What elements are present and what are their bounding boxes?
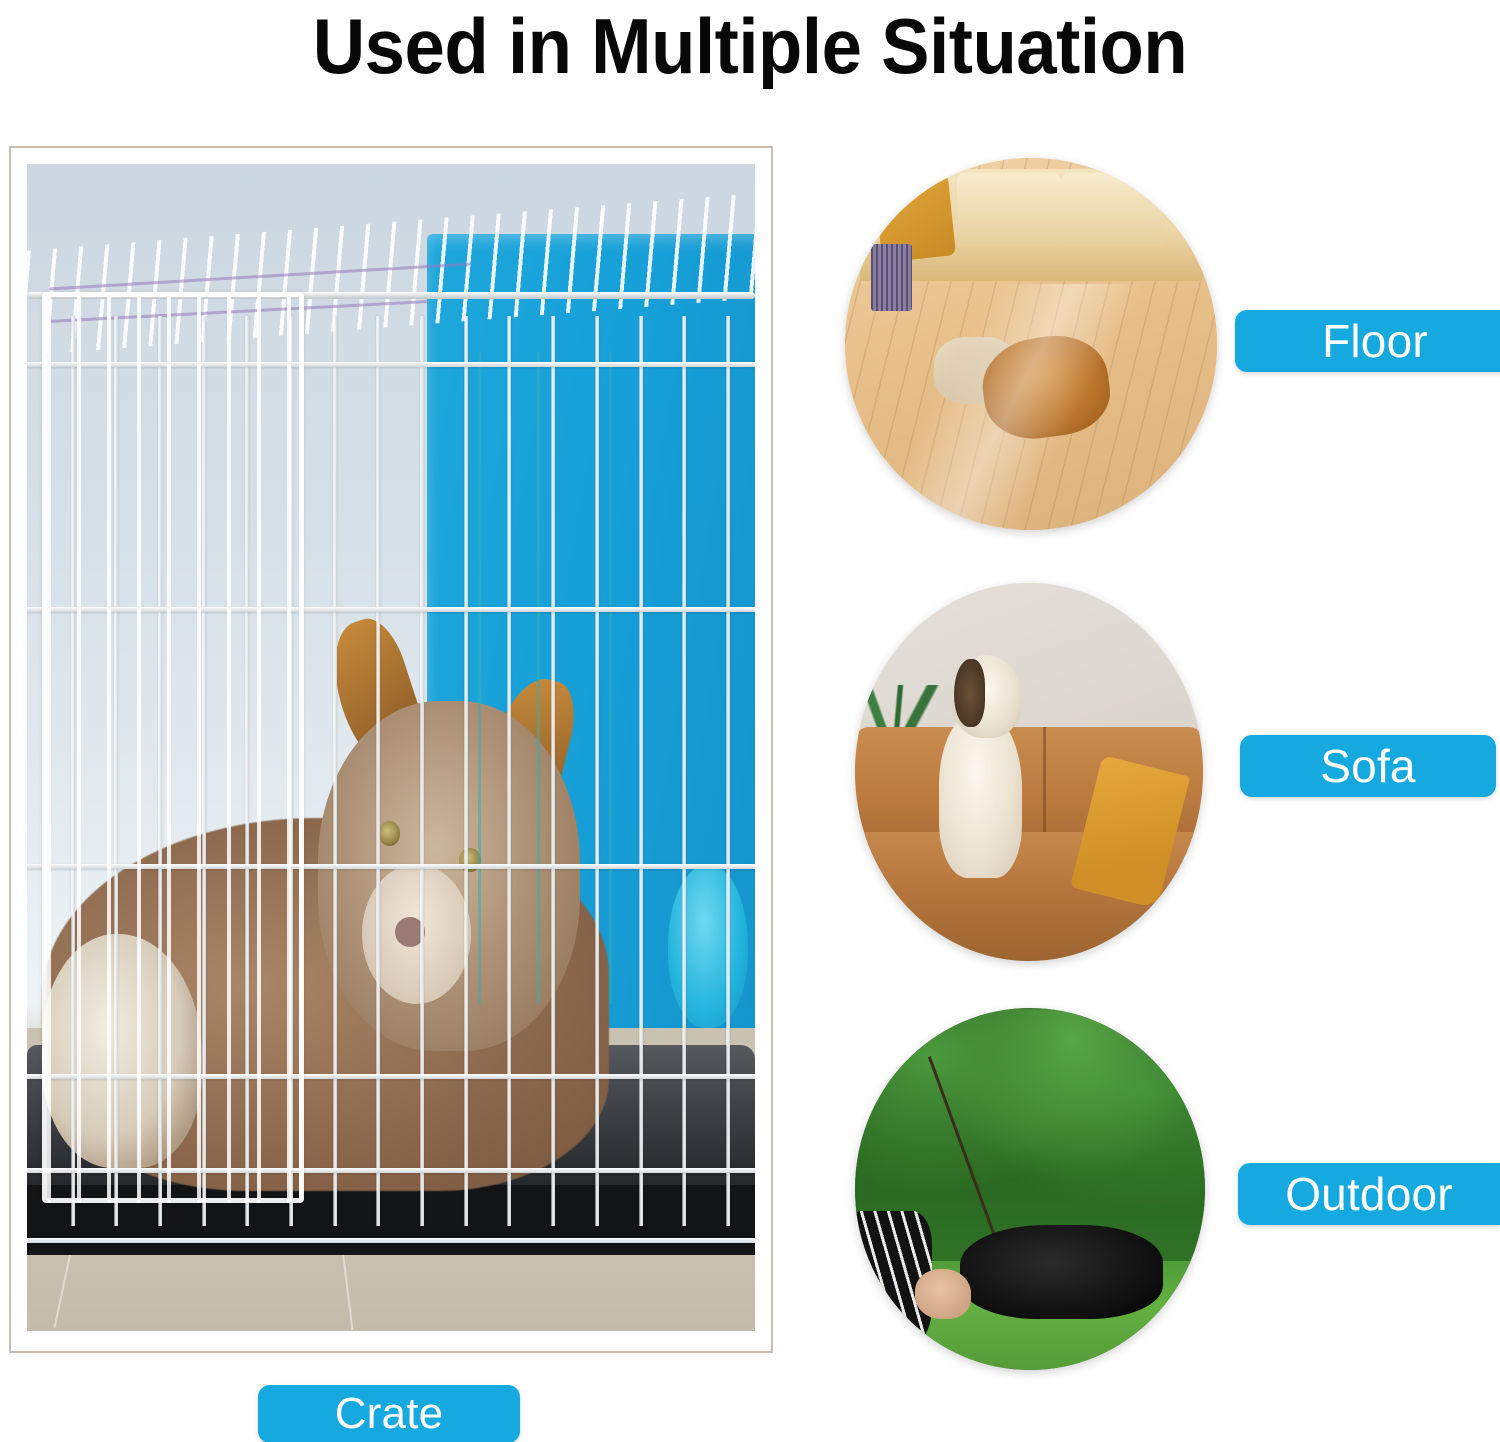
- label-sofa[interactable]: Sofa: [1240, 735, 1496, 797]
- sofa-cushion: [1061, 173, 1165, 247]
- label-crate-text: Crate: [335, 1389, 444, 1439]
- collie-eye-left: [379, 821, 401, 846]
- label-crate[interactable]: Crate: [258, 1385, 520, 1442]
- plush-toy: [42, 934, 202, 1167]
- label-floor[interactable]: Floor: [1235, 310, 1500, 372]
- person-hand: [915, 1269, 971, 1320]
- crate-photo-frame: [9, 146, 773, 1353]
- situation-photo-outdoor: [855, 1008, 1205, 1370]
- situation-photo-floor: [845, 158, 1217, 530]
- sunlight-beam: [845, 284, 1217, 530]
- label-floor-text: Floor: [1322, 314, 1428, 368]
- label-sofa-text: Sofa: [1320, 739, 1415, 793]
- situation-photo-sofa: [855, 583, 1203, 961]
- label-outdoor-text: Outdoor: [1285, 1167, 1453, 1221]
- dog-bed-base: [27, 1185, 755, 1255]
- doodle-dog-face-patch: [954, 659, 985, 727]
- crate-photo: [27, 164, 755, 1331]
- label-outdoor[interactable]: Outdoor: [1238, 1163, 1500, 1225]
- black-dog: [960, 1225, 1163, 1319]
- blue-plush-toy: [668, 864, 748, 1027]
- collie-nose: [395, 917, 426, 947]
- sofa-cushion-seam: [1043, 727, 1046, 840]
- collie-head: [318, 701, 580, 1051]
- sofa-cushion: [957, 173, 1061, 247]
- infographic-page: Used in Multiple Situation: [0, 0, 1500, 1442]
- page-title: Used in Multiple Situation: [53, 0, 1448, 92]
